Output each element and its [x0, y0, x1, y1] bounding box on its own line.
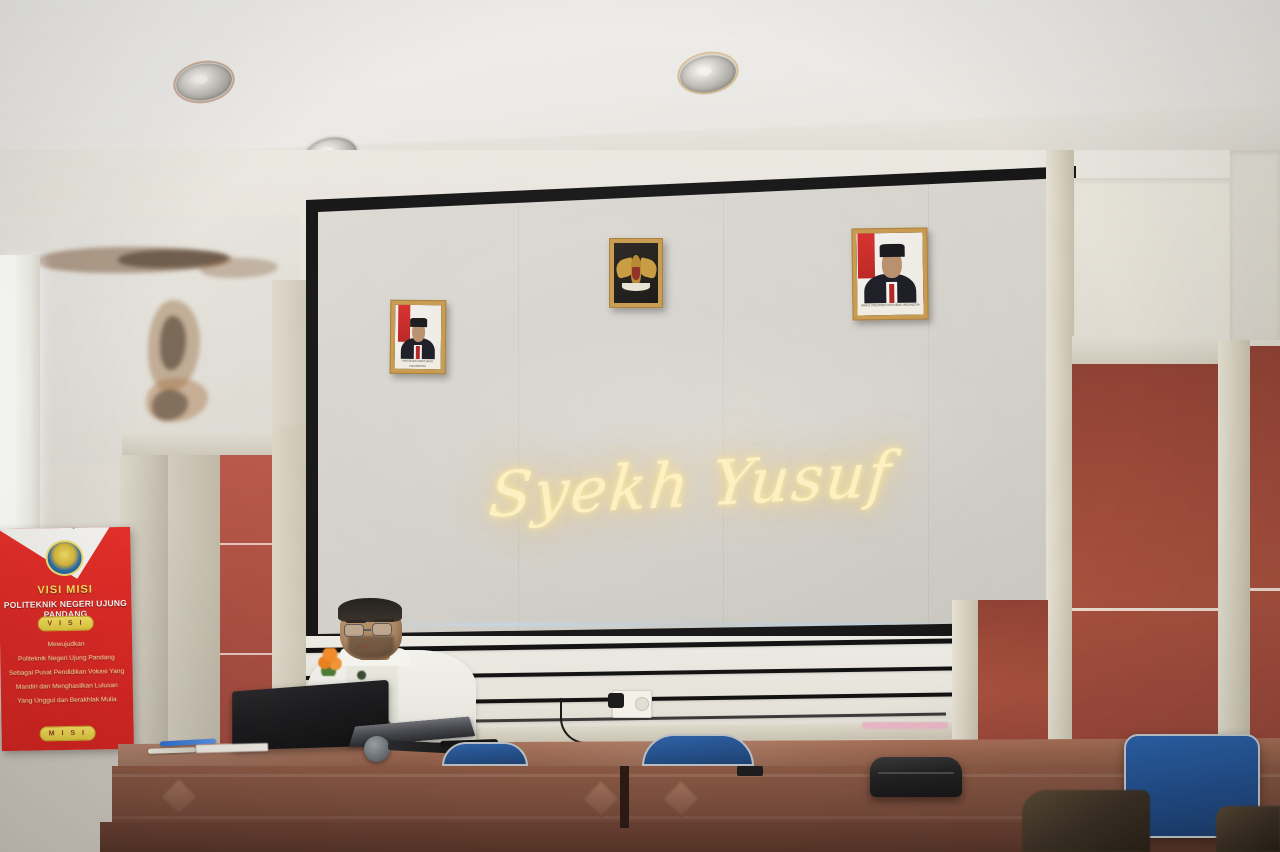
portrait-caption: PRESIDEN REPUBLIK INDONESIA: [395, 359, 441, 369]
eyeglasses-left-lens: [344, 624, 364, 637]
wood-panel-right: [1072, 364, 1218, 754]
peci-cap-icon: [880, 244, 905, 257]
indonesian-flag-icon: [398, 305, 410, 342]
bag-zipper: [878, 772, 954, 774]
vice-president-portrait-frame: WAKIL PRESIDEN REPUBLIK INDONESIA: [851, 227, 928, 320]
vice-president-portrait-image: WAKIL PRESIDEN REPUBLIK INDONESIA: [856, 233, 923, 316]
panel-joint: [1250, 588, 1280, 591]
projection-screen-surface: Syekh Yusuf: [318, 178, 1064, 634]
president-portrait-frame: PRESIDEN REPUBLIK INDONESIA: [390, 300, 447, 375]
panel-joint: [220, 653, 272, 655]
visi-misi-banner: VISI MISI POLITEKNIK NEGERI UJUNG PANDAN…: [0, 527, 134, 751]
banner-badge-misi: M I S I: [40, 725, 96, 741]
indonesian-flag-icon: [858, 233, 876, 278]
panel-joint: [220, 543, 272, 545]
banner-body-line-1: Politeknik Negeri Ujung Pandang: [6, 653, 126, 665]
wall-niche-upper-right: [1072, 178, 1232, 346]
banner-heading: VISI MISI: [0, 583, 131, 597]
eyeglasses-bridge: [364, 629, 371, 631]
presenter-mouth: [356, 645, 372, 648]
bhinneka-ribbon-icon: [622, 283, 650, 291]
window-light: [0, 255, 16, 575]
panel-joint: [1072, 608, 1218, 611]
tie: [889, 284, 895, 305]
presenter-brow-right: [374, 619, 394, 622]
draped-cloth-right: [1216, 806, 1280, 852]
wall-niche-right-top: [1230, 150, 1280, 340]
garuda-emblem-image: [614, 243, 658, 303]
eyeglasses-right-lens: [372, 623, 392, 636]
wall-pillar-right-far: [1218, 340, 1250, 754]
wood-panel-far-right: [1250, 346, 1280, 756]
outlet-socket: [635, 697, 649, 711]
chair-behind-table-left[interactable]: [442, 742, 528, 766]
banner-body-line-0: Mewujudkan: [6, 639, 126, 651]
wall-pillar-right-outer: [1046, 150, 1074, 750]
wall-column-left-upper: [272, 280, 308, 425]
microphone-head[interactable]: [364, 736, 390, 762]
peci-cap-icon: [410, 318, 427, 327]
wood-panel-behind-screen-right: [978, 600, 1048, 752]
banner-body-line-3: Mandiri dan Menghasilkan Lulusan: [7, 681, 127, 693]
table-rail-top: [112, 774, 1280, 777]
wall-lintel-left: [122, 433, 272, 455]
flower-decoration: [318, 648, 342, 676]
black-bag[interactable]: [870, 757, 962, 797]
pink-folder: [862, 722, 948, 729]
garuda-emblem-frame: [609, 238, 663, 308]
photograph-seminar-room: Syekh Yusuf PRESIDEN REPUBLIK INDONESIA: [0, 0, 1280, 852]
presenter-brow-left: [346, 620, 366, 623]
banner-body-line-4: Yang Unggul dan Berakhlak Mulia: [7, 695, 127, 707]
banner-badge-visi: V I S I: [38, 616, 94, 632]
president-portrait-image: PRESIDEN REPUBLIK INDONESIA: [395, 305, 442, 369]
banner-body-line-2: Sebagai Pusat Pendidikan Vokasi Yang: [7, 667, 127, 679]
power-cable: [560, 698, 612, 744]
small-black-device[interactable]: [737, 766, 763, 776]
portrait-caption: WAKIL PRESIDEN REPUBLIK INDONESIA: [857, 302, 923, 315]
wall-pier-left-inner: [168, 455, 220, 755]
chair-behind-table[interactable]: [642, 734, 754, 766]
table-section-gap: [620, 766, 629, 828]
draped-jacket: [1022, 790, 1150, 852]
wall-column-right: [952, 600, 978, 756]
